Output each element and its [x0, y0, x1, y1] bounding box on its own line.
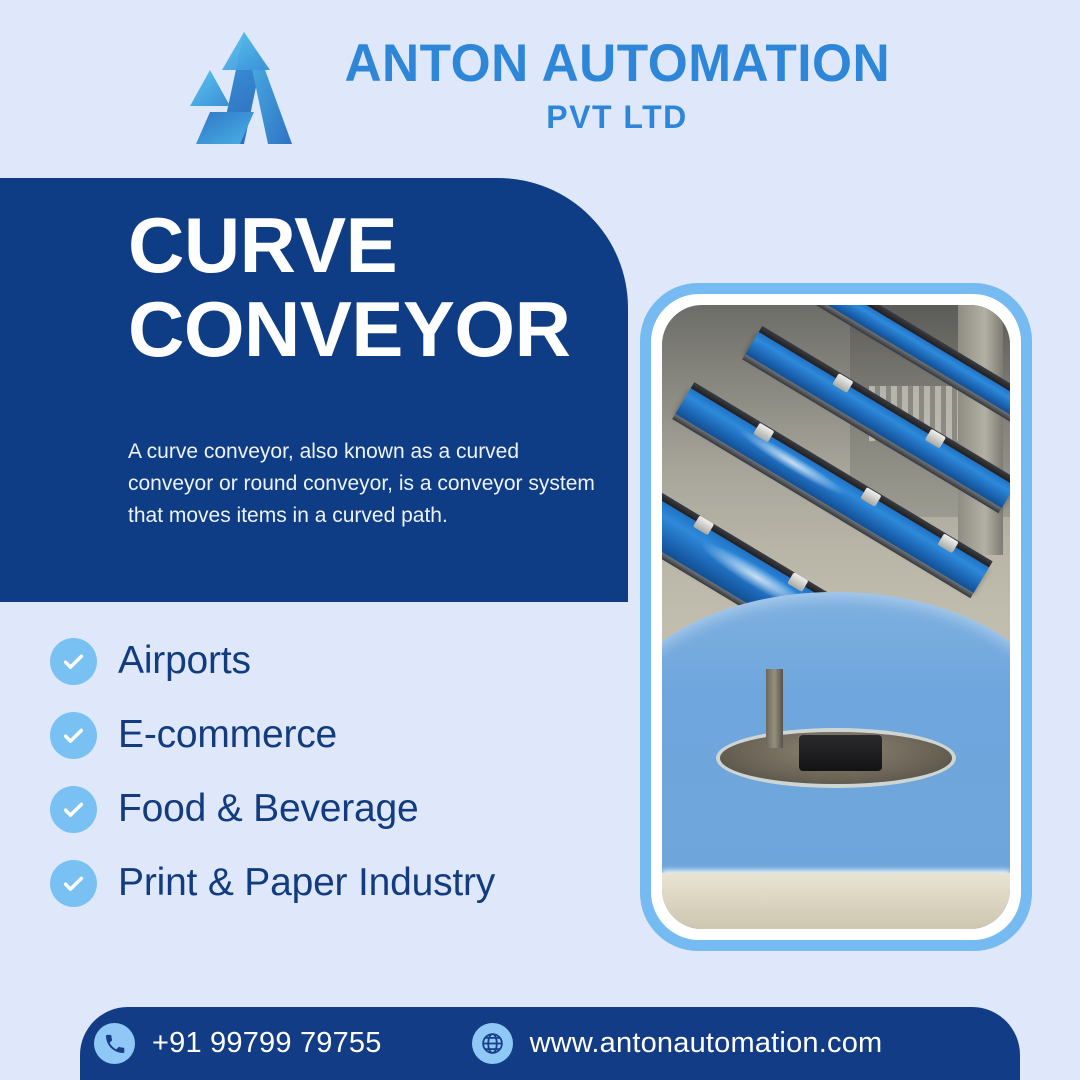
- list-item-label: Print & Paper Industry: [118, 861, 495, 905]
- hero-description: A curve conveyor, also known as a curved…: [128, 436, 598, 532]
- brand-name: ANTON AUTOMATION: [344, 37, 890, 90]
- check-circle-icon: [50, 860, 97, 907]
- check-circle-icon: [50, 712, 97, 759]
- phone-number: +91 99799 79755: [152, 1027, 382, 1060]
- list-item[interactable]: Food & Beverage: [50, 772, 630, 846]
- list-item-label: Food & Beverage: [118, 787, 419, 831]
- list-item[interactable]: Airports: [50, 624, 630, 698]
- list-item-label: Airports: [118, 639, 251, 683]
- brand-subtitle: PVT LTD: [546, 101, 687, 133]
- list-item[interactable]: Print & Paper Industry: [50, 846, 630, 920]
- contact-footer-bar: +91 99799 79755 www.antonautomation.com: [80, 1007, 1020, 1080]
- applications-list: Airports E-commerce Food & Beverage: [50, 624, 630, 920]
- title-line-1: CURVE: [128, 203, 648, 287]
- brand-header: ANTON AUTOMATION PVT LTD: [0, 0, 1080, 170]
- conveyor-photo: [662, 305, 1010, 929]
- poster-canvas: ANTON AUTOMATION PVT LTD CURVE CONVEYOR …: [0, 0, 1080, 1080]
- page-title: CURVE CONVEYOR: [128, 203, 648, 371]
- phone-icon: [94, 1023, 135, 1064]
- website-contact[interactable]: www.antonautomation.com: [472, 1023, 883, 1064]
- photo-inner-frame: [651, 294, 1021, 940]
- brand-wordmark: ANTON AUTOMATION PVT LTD: [336, 37, 899, 133]
- hero-panel: CURVE CONVEYOR A curve conveyor, also kn…: [0, 178, 628, 602]
- check-circle-icon: [50, 786, 97, 833]
- anton-a-logo-icon: [182, 26, 310, 144]
- website-url: www.antonautomation.com: [530, 1027, 883, 1060]
- conveyor-illustration: [662, 305, 1010, 929]
- check-circle-icon: [50, 638, 97, 685]
- title-line-2: CONVEYOR: [128, 287, 648, 371]
- product-photo-card: [640, 283, 1032, 951]
- list-item[interactable]: E-commerce: [50, 698, 630, 772]
- list-item-label: E-commerce: [118, 713, 337, 757]
- globe-icon: [472, 1023, 513, 1064]
- phone-contact[interactable]: +91 99799 79755: [94, 1023, 382, 1064]
